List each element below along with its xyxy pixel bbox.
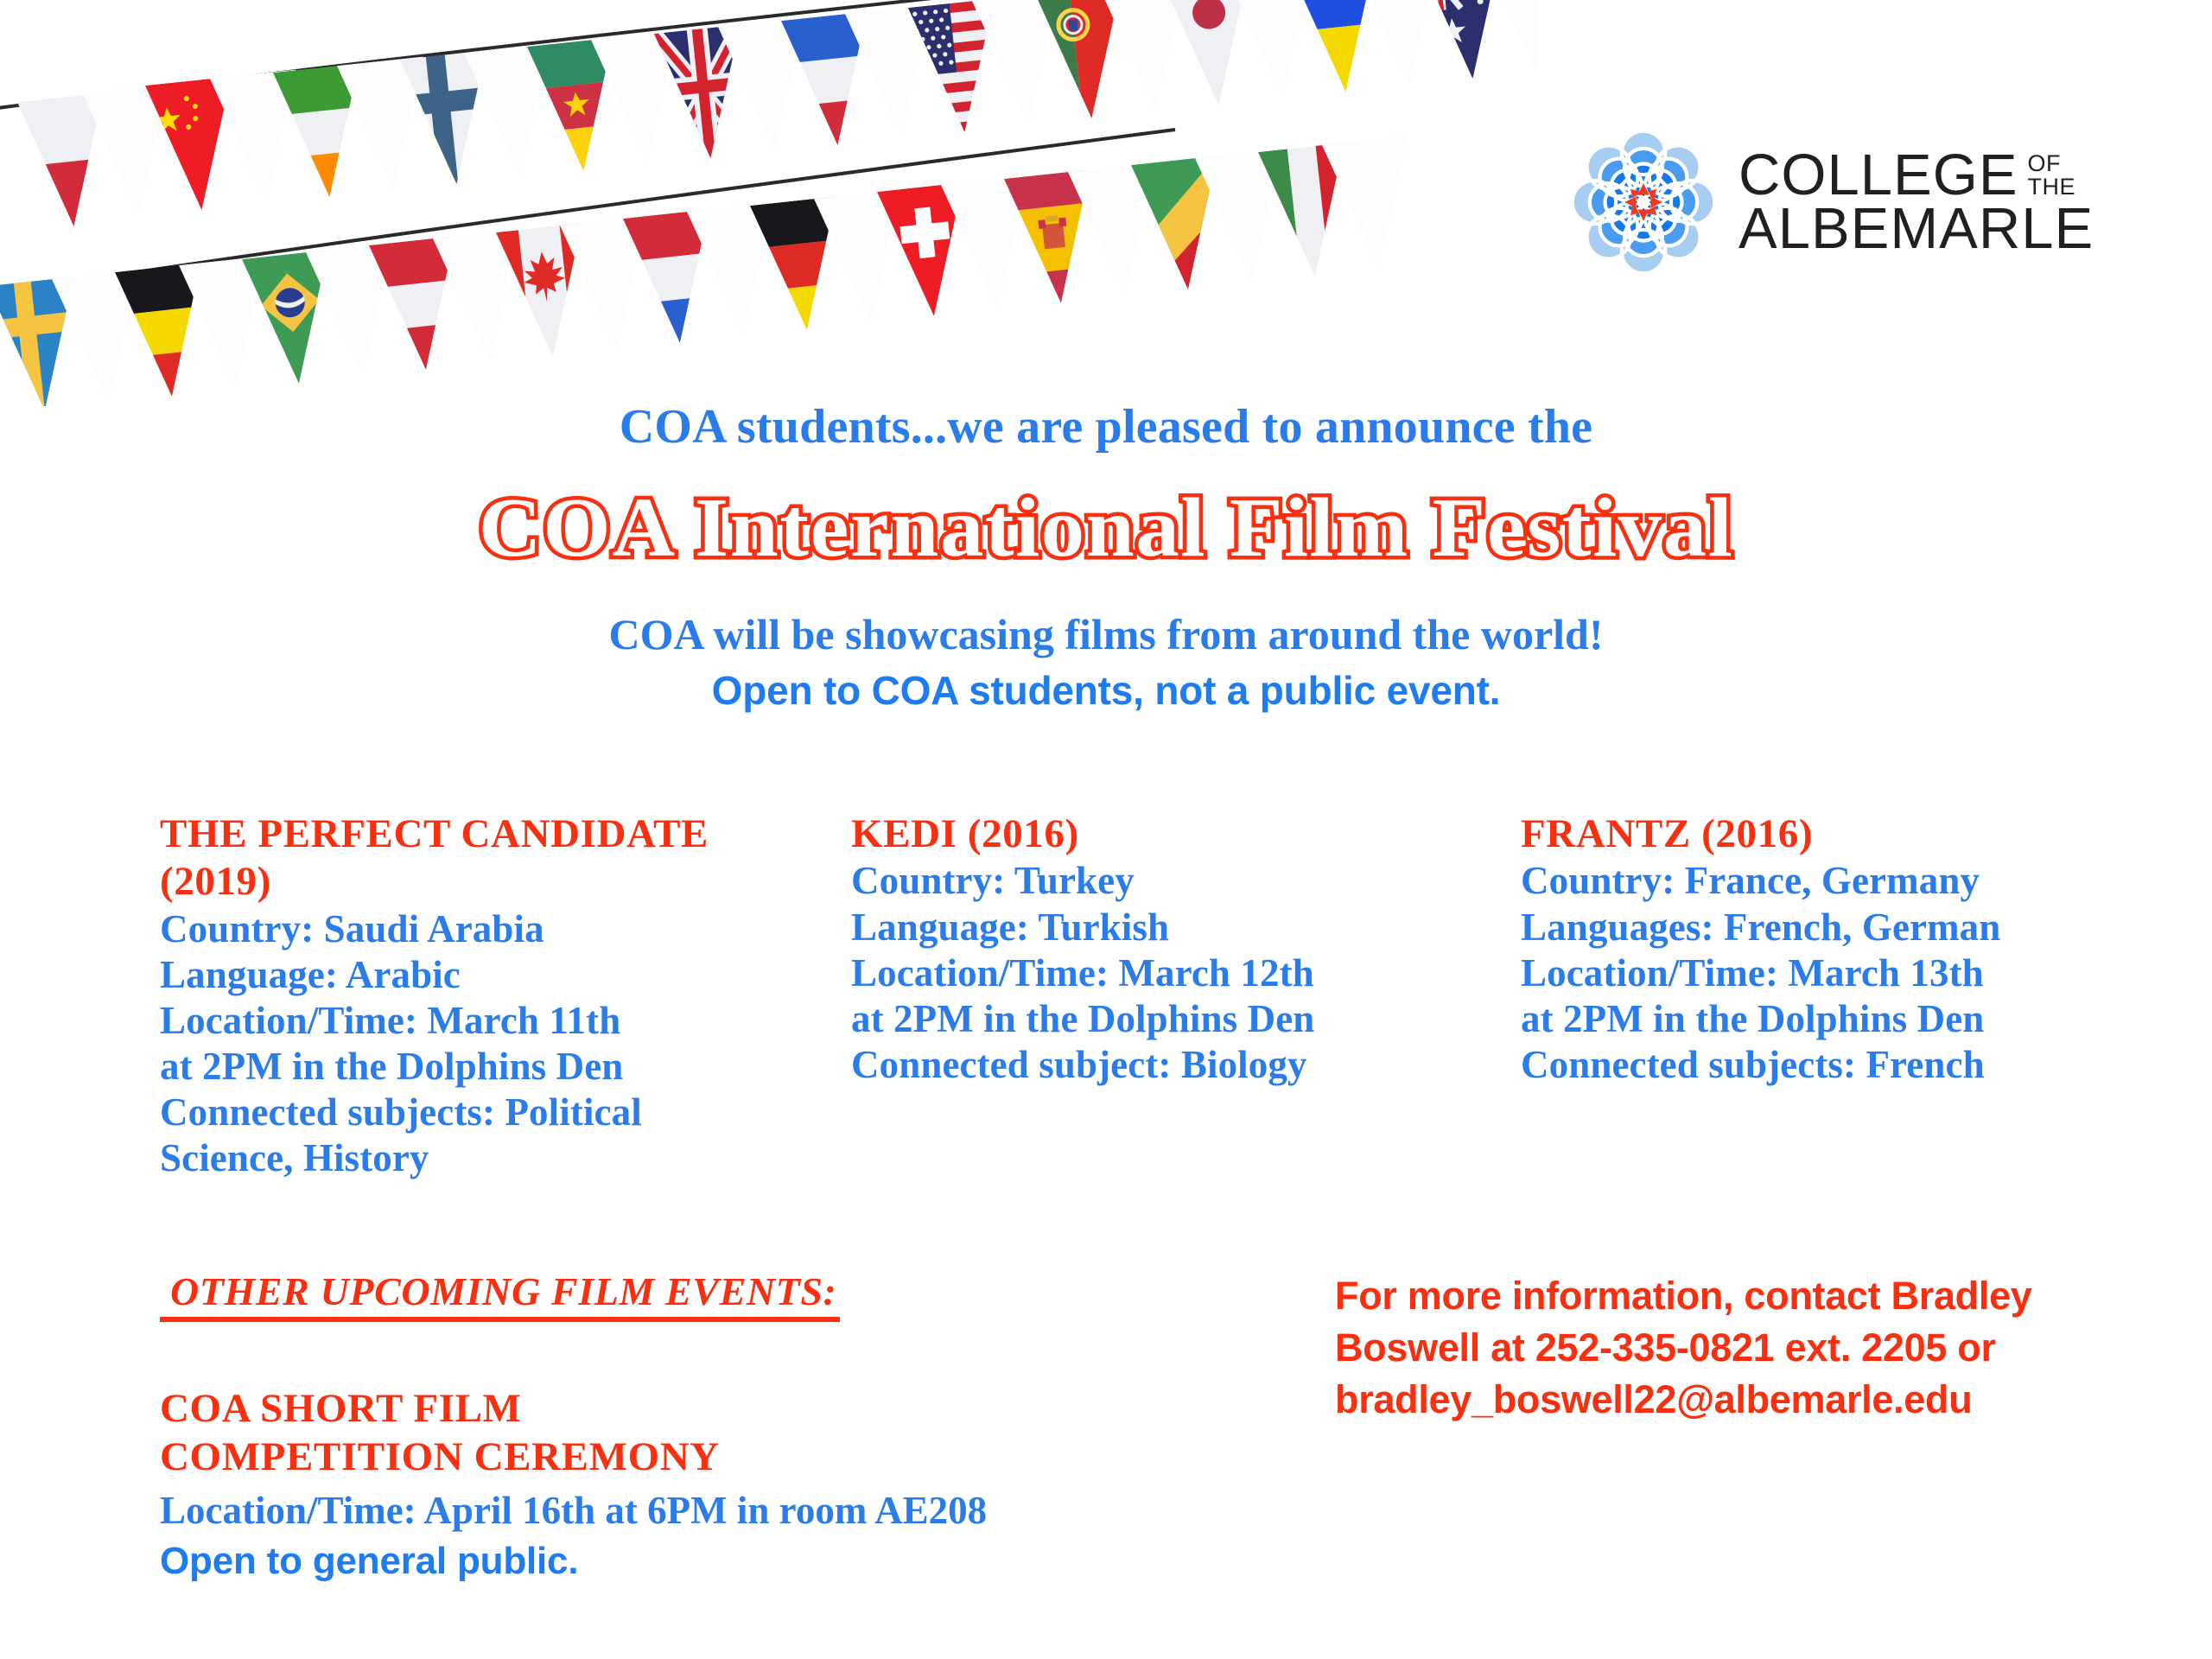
announcement-line: COA students...we are pleased to announc… [0, 399, 2212, 454]
film-detail-line: Location/Time: March 12th [851, 950, 1456, 996]
logo-word-college: COLLEGE [1738, 149, 2018, 202]
film-entry: THE PERFECT CANDIDATE (2019) Country: Sa… [160, 810, 765, 1181]
college-of-the-albemarle-logo: COLLEGE OF THE ALBEMARLE [1571, 130, 2094, 275]
logo-word-albemarle: ALBEMARLE [1738, 202, 2094, 256]
film-detail-line: Languages: French, German [1521, 905, 2177, 950]
film-title: FRANTZ (2016) [1521, 810, 2177, 858]
short-film-location: Location/Time: April 16th at 6PM in room… [160, 1487, 1154, 1535]
film-details: Country: Saudi Arabia Language: Arabic L… [160, 906, 765, 1182]
page-title: COA International Film Festival [0, 480, 2212, 576]
short-film-title-line-1: COA SHORT FILM [160, 1384, 1154, 1433]
contact-line-1: For more information, contact Bradley [1335, 1270, 2113, 1322]
short-film-audience-note: Open to general public. [160, 1540, 1154, 1583]
short-film-event-title: COA SHORT FILM COMPETITION CEREMONY [160, 1384, 1154, 1482]
film-detail-line: at 2PM in the Dolphins Den [160, 1044, 765, 1090]
film-detail-line: Connected subjects: Political [160, 1090, 765, 1135]
bunting-flags-decoration [0, 0, 1538, 406]
logo-word-of: OF [2028, 152, 2076, 175]
film-entry: KEDI (2016) Country: Turkey Language: Tu… [851, 810, 1456, 1088]
film-entry: FRANTZ (2016) Country: France, Germany L… [1521, 810, 2177, 1088]
rosette-icon [1571, 130, 1716, 275]
logo-wordmark: COLLEGE OF THE ALBEMARLE [1738, 149, 2094, 257]
short-film-title-line-2: COMPETITION CEREMONY [160, 1433, 1154, 1481]
film-details: Country: France, Germany Languages: Fren… [1521, 858, 2177, 1087]
film-detail-line: Location/Time: March 13th [1521, 950, 2177, 996]
film-details: Country: Turkey Language: Turkish Locati… [851, 858, 1456, 1087]
film-detail-line: Language: Turkish [851, 905, 1456, 950]
contact-info: For more information, contact Bradley Bo… [1335, 1270, 2113, 1426]
film-detail-line: Location/Time: March 11th [160, 998, 765, 1044]
film-detail-line: Connected subject: Biology [851, 1042, 1456, 1088]
other-events-section: OTHER UPCOMING FILM EVENTS: COA SHORT FI… [160, 1268, 1154, 1583]
logo-word-the: THE [2028, 175, 2076, 199]
film-detail-line: at 2PM in the Dolphins Den [851, 996, 1456, 1042]
film-detail-line: Connected subjects: French [1521, 1042, 2177, 1088]
film-title: THE PERFECT CANDIDATE (2019) [160, 810, 765, 906]
film-detail-line: Language: Arabic [160, 952, 765, 998]
other-events-heading: OTHER UPCOMING FILM EVENTS: [160, 1268, 840, 1322]
film-title: KEDI (2016) [851, 810, 1456, 858]
film-detail-line: Science, History [160, 1135, 765, 1181]
film-detail-line: Country: Saudi Arabia [160, 906, 765, 952]
film-detail-line: Country: Turkey [851, 858, 1456, 904]
contact-line-2: Boswell at 252-335-0821 ext. 2205 or [1335, 1322, 2113, 1374]
bunting-row-2 [0, 130, 1422, 406]
showcase-line: COA will be showcasing films from around… [0, 609, 2212, 659]
contact-email[interactable]: bradley_boswell22@albemarle.edu [1335, 1374, 2113, 1426]
audience-note: Open to COA students, not a public event… [0, 667, 2212, 714]
film-detail-line: at 2PM in the Dolphins Den [1521, 996, 2177, 1042]
film-detail-line: Country: France, Germany [1521, 858, 2177, 904]
